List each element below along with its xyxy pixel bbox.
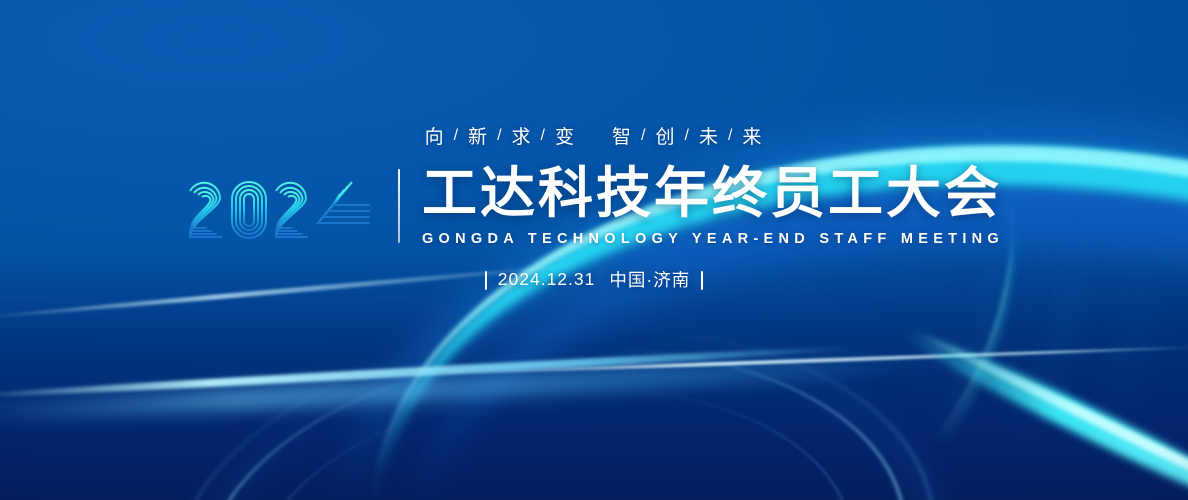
event-banner: 向 / 新 / 求 / 变 智 / 创 / 未 / 来: [0, 0, 1188, 500]
sub-title: GONGDA TECHNOLOGY YEAR-END STAFF MEETING: [422, 231, 1004, 247]
year-outline-svg: [184, 167, 380, 245]
year-2024-graphic: [184, 167, 380, 245]
slogan-separator-1: /: [447, 127, 467, 145]
date-left-bar: [485, 271, 487, 290]
slogan-char-1: 向: [424, 122, 447, 149]
slogan-separator-2: /: [490, 127, 510, 145]
slogan-separator-4: /: [634, 127, 654, 145]
event-location: 中国·济南: [609, 267, 690, 292]
slogan-char-4: 变: [554, 122, 577, 149]
slogan-char-8: 来: [741, 122, 764, 149]
title-block: 工达科技年终员工大会 GONGDA TECHNOLOGY YEAR-END ST…: [422, 165, 1004, 246]
slogan-char-3: 求: [511, 122, 534, 149]
date-right-bar: [701, 271, 703, 290]
slogan-separator-5: /: [677, 127, 697, 145]
slogan-char-6: 创: [654, 122, 677, 149]
slogan-char-5: 智: [611, 122, 634, 149]
main-title: 工达科技年终员工大会: [422, 165, 1004, 221]
slogan-char-2: 新: [467, 122, 490, 149]
slogan-line: 向 / 新 / 求 / 变 智 / 创 / 未 / 来: [424, 122, 765, 149]
title-divider: [398, 169, 400, 243]
event-date: 2024.12.31: [498, 269, 596, 290]
slogan-separator-3: /: [534, 127, 554, 145]
slogan-char-7: 未: [698, 122, 721, 149]
title-row: 工达科技年终员工大会 GONGDA TECHNOLOGY YEAR-END ST…: [184, 165, 1004, 247]
date-location-row: 2024.12.31 中国·济南: [474, 267, 714, 292]
slogan-separator-6: /: [721, 127, 741, 145]
banner-content: 向 / 新 / 求 / 变 智 / 创 / 未 / 来: [0, 0, 1188, 500]
